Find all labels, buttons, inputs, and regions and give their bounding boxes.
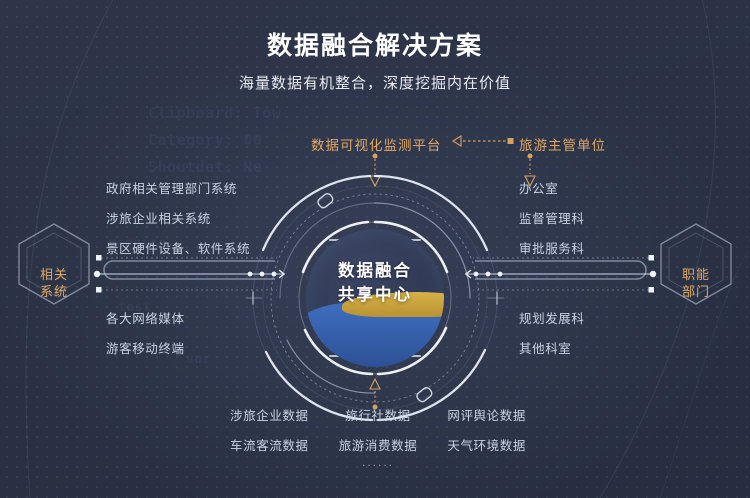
list-item: 审批服务科 [519, 238, 585, 257]
bottom-data-sources-grid: 涉旅企业数据 旅行社数据 网评舆论数据 车流客流数据 旅游消费数据 天气环境数据 [218, 405, 538, 454]
watermark-line: Clipboard: Tow [148, 104, 281, 122]
right-departments-list-top: 办公室 监督管理科 审批服务科 [519, 178, 585, 268]
infographic-canvas: Clipboard: Tow Category: 00 Shoutdat: Ne… [0, 0, 750, 498]
list-item: 涉旅企业相关系统 [106, 208, 250, 227]
data-source-item: 旅游消费数据 [327, 435, 430, 454]
list-item: 景区硬件设备、软件系统 [106, 238, 250, 257]
data-source-item: 涉旅企业数据 [218, 405, 321, 424]
hexagon-left-label: 相关 系统 [15, 266, 93, 300]
page-subtitle: 海量数据有机整合，深度挖掘内在价值 [0, 72, 750, 93]
list-item: 游客移动终端 [106, 338, 185, 357]
list-item: 监督管理科 [519, 208, 585, 227]
data-source-item: 天气环境数据 [435, 435, 538, 454]
list-item: 其他科室 [519, 338, 585, 357]
label-tourism-authority: 旅游主管单位 [519, 134, 606, 154]
watermark-line: Category: 00 [148, 131, 262, 149]
watermark-line: var [186, 352, 211, 367]
core-label: 数据融合 共享中心 [306, 259, 444, 307]
label-visualization-platform: 数据可视化监测平台 [311, 134, 442, 154]
data-source-item: 车流客流数据 [218, 435, 321, 454]
list-item: 政府相关管理部门系统 [106, 178, 250, 197]
data-sources-ellipsis: ...... [218, 455, 538, 469]
left-systems-list-top: 政府相关管理部门系统 涉旅企业相关系统 景区硬件设备、软件系统 [106, 178, 250, 268]
page-title: 数据融合解决方案 [0, 26, 750, 62]
watermark-line: Shoutdat: Ne [148, 158, 262, 176]
hexagon-right-label: 职能 部门 [657, 266, 735, 300]
data-source-item: 网评舆论数据 [435, 405, 538, 424]
left-systems-list-bottom: 各大网络媒体 游客移动终端 [106, 308, 185, 368]
list-item: 办公室 [519, 178, 585, 197]
data-source-item: 旅行社数据 [327, 405, 430, 424]
list-item: 各大网络媒体 [106, 308, 185, 327]
right-departments-list-bottom: 规划发展科 其他科室 [519, 308, 585, 368]
list-item: 规划发展科 [519, 308, 585, 327]
